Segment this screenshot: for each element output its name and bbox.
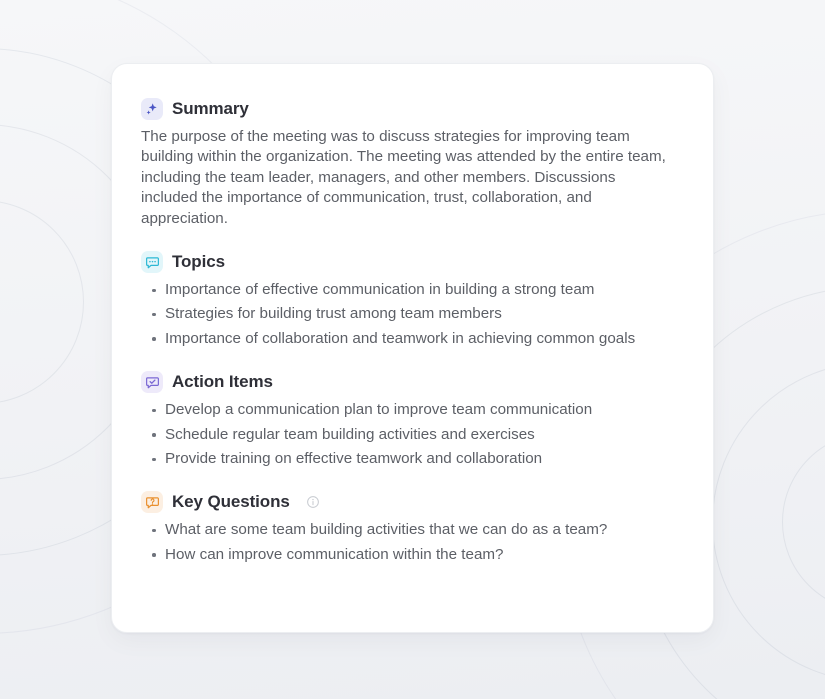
chat-question-icon bbox=[141, 491, 163, 513]
list-item: Importance of effective communication in… bbox=[141, 280, 685, 300]
topics-list: Importance of effective communication in… bbox=[141, 280, 685, 349]
summary-paragraph: The purpose of the meeting was to discus… bbox=[141, 127, 668, 229]
list-item: Provide training on effective teamwork a… bbox=[141, 449, 685, 469]
chat-check-icon bbox=[141, 371, 163, 393]
list-item: Develop a communication plan to improve … bbox=[141, 400, 685, 420]
section-header-topics: Topics bbox=[141, 251, 685, 273]
list-item: Importance of collaboration and teamwork… bbox=[141, 329, 685, 349]
section-title: Action Items bbox=[172, 372, 273, 392]
meeting-summary-card: Summary The purpose of the meeting was t… bbox=[111, 63, 714, 633]
section-header-summary: Summary bbox=[141, 98, 685, 120]
list-item: Schedule regular team building activitie… bbox=[141, 425, 685, 445]
info-circle-icon[interactable] bbox=[306, 495, 320, 509]
section-header-action-items: Action Items bbox=[141, 371, 685, 393]
action-items-list: Develop a communication plan to improve … bbox=[141, 400, 685, 469]
list-item: Strategies for building trust among team… bbox=[141, 304, 685, 324]
section-title: Summary bbox=[172, 99, 249, 119]
section-key-questions: Key Questions What are some team buildin… bbox=[141, 491, 685, 565]
list-item: How can improve communication within the… bbox=[141, 545, 685, 565]
section-summary: Summary The purpose of the meeting was t… bbox=[141, 98, 685, 229]
section-title: Key Questions bbox=[172, 492, 290, 512]
sparkle-icon bbox=[141, 98, 163, 120]
list-item: What are some team building activities t… bbox=[141, 520, 685, 540]
chat-dots-icon bbox=[141, 251, 163, 273]
section-title: Topics bbox=[172, 252, 225, 272]
section-topics: Topics Importance of effective communica… bbox=[141, 251, 685, 349]
section-action-items: Action Items Develop a communication pla… bbox=[141, 371, 685, 469]
key-questions-list: What are some team building activities t… bbox=[141, 520, 685, 565]
section-header-key-questions: Key Questions bbox=[141, 491, 685, 513]
